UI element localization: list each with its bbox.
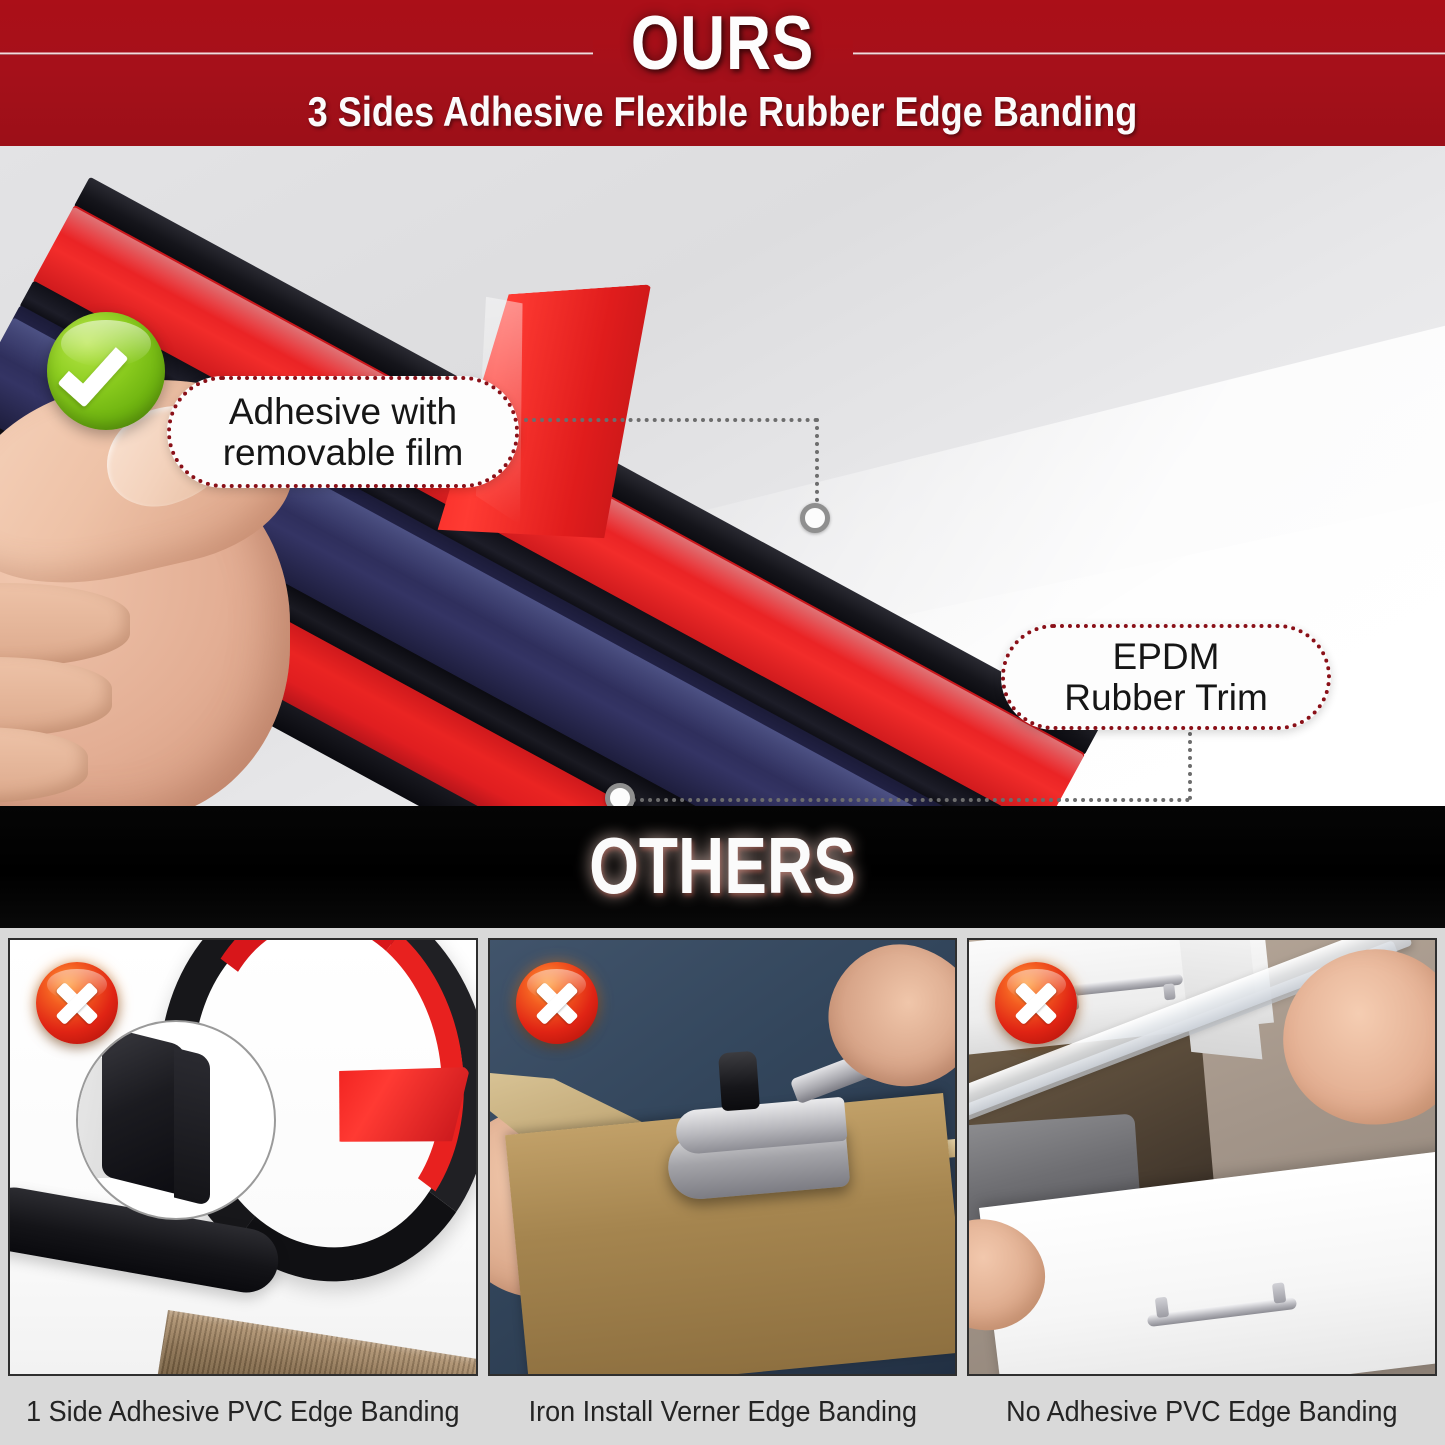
callout-adhesive-line1: Adhesive with — [223, 391, 464, 432]
callout-epdm: EPDM Rubber Trim — [1001, 624, 1331, 730]
profile-inset-circle — [76, 1020, 276, 1220]
red-x-badge — [516, 962, 598, 1044]
caption-panel-1: 1 Side Adhesive PVC Edge Banding — [24, 1380, 461, 1445]
caption-panel-2: Iron Install Verner Edge Banding — [504, 1380, 941, 1445]
others-title: OTHERS — [145, 810, 1301, 922]
leader-line-adhesive-horizontal — [524, 418, 818, 422]
callout-epdm-line2: Rubber Trim — [1064, 677, 1268, 718]
caption-panel-3: No Adhesive PVC Edge Banding — [984, 1380, 1421, 1445]
ours-hero-photo: Adhesive with removable film EPDM Rubber… — [0, 146, 1445, 806]
others-panel-2 — [488, 938, 958, 1376]
others-panel-1 — [8, 938, 478, 1376]
leader-line-adhesive-vertical — [815, 418, 819, 510]
red-x-badge — [995, 962, 1077, 1044]
red-x-badge — [36, 962, 118, 1044]
inset-cap-side — [174, 1048, 210, 1207]
leader-dot-adhesive — [800, 503, 830, 533]
panel-captions: 1 Side Adhesive PVC Edge Banding Iron In… — [0, 1380, 1445, 1445]
others-panel-3 — [967, 938, 1437, 1376]
ours-banner: OURS 3 Sides Adhesive Flexible Rubber Ed… — [0, 0, 1445, 146]
leader-line-epdm-vertical — [1188, 732, 1192, 800]
ours-subtitle: 3 Sides Adhesive Flexible Rubber Edge Ba… — [101, 88, 1344, 136]
comparison-infographic: OURS 3 Sides Adhesive Flexible Rubber Ed… — [0, 0, 1445, 1445]
ours-title: OURS — [130, 0, 1315, 92]
callout-epdm-line1: EPDM — [1064, 636, 1268, 677]
particle-board-edge — [156, 1310, 478, 1376]
checkmark-icon — [58, 334, 129, 407]
others-panel-row — [0, 928, 1445, 1380]
iron-knob — [718, 1051, 760, 1112]
green-check-badge — [47, 312, 165, 430]
others-banner: OTHERS — [0, 806, 1445, 928]
leader-dot-epdm — [605, 783, 635, 806]
leader-line-epdm-horizontal — [632, 798, 1190, 802]
callout-adhesive-line2: removable film — [223, 432, 464, 473]
callout-adhesive: Adhesive with removable film — [167, 376, 519, 488]
